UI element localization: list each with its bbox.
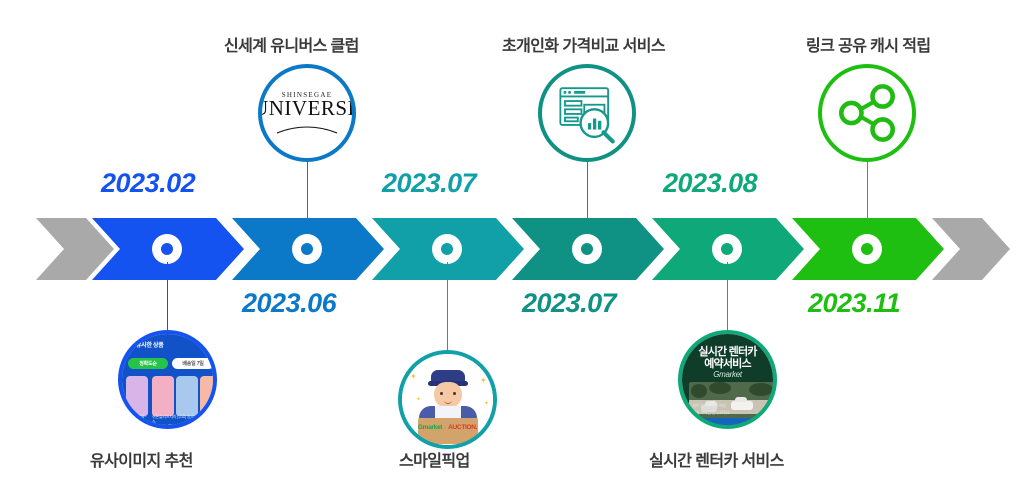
date-label-2023-02: 2023.02	[101, 168, 195, 199]
timeline-node-2023-06	[292, 234, 322, 264]
timeline-segment-2023-07-bottom[interactable]	[512, 218, 664, 280]
timeline-segment-2023-11[interactable]	[792, 218, 944, 280]
product-caption: 여름 쉬	[200, 414, 217, 419]
callout-title-link-share-cash: 링크 공유 캐시 적립	[806, 32, 931, 56]
badge-shinsegae-universe-logo: SHINSEGAE UNIVERSE	[258, 64, 356, 162]
badge-similar-image-screenshot: 유사한 상품 정확도순 배송일 7일 원피스 여름~ 쉬폰플리츠치마 [무료] …	[118, 330, 217, 429]
product-thumb[interactable]	[176, 376, 198, 416]
sparkle-icon: ✦	[480, 376, 487, 385]
product-price: 15,000원	[152, 424, 172, 429]
timeline-segment-2023-07-top[interactable]	[372, 218, 524, 280]
promo-bottom-bar	[682, 418, 773, 425]
product-thumb[interactable]	[152, 376, 174, 416]
promo-photo	[689, 382, 775, 422]
callout-caption-similar-image: 유사이미지 추천	[90, 447, 193, 471]
promo-note-2: 최대 72시간 전 무료취소	[692, 410, 730, 416]
product-caption: 쉬폰플리츠치마 [무료] 원피스	[152, 414, 196, 424]
promo-car	[731, 401, 753, 410]
filter-chip-active[interactable]: 정확도순	[128, 358, 168, 369]
timeline-segment-end-cap	[932, 218, 1010, 280]
logo-arc-icon	[276, 121, 338, 135]
delivery-box	[418, 418, 478, 444]
date-label-2023-07-top: 2023.07	[382, 168, 476, 199]
app-header-title: 유사한 상품	[136, 340, 163, 349]
share-network-icon	[822, 68, 912, 158]
connector-line-share	[867, 162, 868, 220]
connector-line-rental-car	[727, 262, 728, 330]
timeline-node-2023-08	[712, 234, 742, 264]
badge-price-comparison-icon	[538, 64, 636, 162]
gmarket-logo-icon: Gmarket	[418, 424, 442, 431]
callout-title-price-comparison: 초개인화 가격비교 서비스	[502, 32, 665, 56]
courier-face	[434, 382, 462, 408]
box-brand-logos: Gmarket · AUCTION.	[419, 424, 477, 431]
connector-line-shinsegae	[307, 162, 308, 220]
callout-caption-smile-pickup: 스마일픽업	[399, 447, 470, 471]
product-thumb[interactable]	[200, 376, 217, 416]
timeline-segment-2023-02[interactable]	[92, 218, 244, 280]
timeline-node-2023-07-top	[432, 234, 462, 264]
logo-large-text: UNIVERSE	[258, 98, 356, 119]
timeline-node-2023-02	[152, 234, 182, 264]
badge-rental-car-promo: 실시간 렌터카 예약서비스 Gmarket 제주 전지역 차량 배송 최대 72…	[678, 330, 777, 429]
date-label-2023-08: 2023.08	[663, 168, 757, 199]
timeline-segment-2023-08[interactable]	[652, 218, 804, 280]
auction-logo-icon: AUCTION.	[448, 424, 477, 431]
callout-caption-rental-car: 실시간 렌터카 서비스	[649, 447, 784, 471]
promo-headline-line1: 실시간 렌터카	[682, 346, 773, 359]
shopping-app-screenshot: 유사한 상품 정확도순 배송일 7일 원피스 여름~ 쉬폰플리츠치마 [무료] …	[122, 334, 213, 425]
shinsegae-universe-logo-icon: SHINSEGAE UNIVERSE	[262, 68, 352, 158]
timeline-segment-2023-06[interactable]	[232, 218, 384, 280]
logo-separator: ·	[444, 425, 446, 431]
timeline-node-2023-07-bottom	[572, 234, 602, 264]
browser-magnifier-chart-icon	[542, 68, 632, 158]
promo-headline-line2: 예약서비스	[682, 358, 773, 371]
courier-illustration-icon: ✦ ✦ ✦ ✦ Gmarket · AUCTION.	[402, 354, 493, 445]
timeline-node-2023-11	[852, 234, 882, 264]
product-caption: 원피스 여름~	[126, 414, 148, 419]
infographic-canvas: 신세계 유니버스 클럽 초개인화 가격비교 서비스 링크 공유 캐시 적립 SH…	[0, 0, 1024, 480]
filter-chip-inactive[interactable]: 배송일 7일	[172, 358, 214, 369]
date-label-2023-11: 2023.11	[808, 288, 900, 319]
sparkle-icon: ✦	[410, 372, 417, 381]
date-label-2023-06: 2023.06	[242, 288, 336, 319]
sparkle-icon: ✦	[416, 396, 421, 403]
product-thumb[interactable]	[126, 376, 148, 416]
rental-car-promo-card-icon: 실시간 렌터카 예약서비스 Gmarket 제주 전지역 차량 배송 최대 72…	[682, 334, 773, 425]
connector-line-similar-image	[167, 262, 168, 330]
callout-title-shinsegae-universe-club: 신세계 유니버스 클럽	[224, 32, 359, 56]
promo-script-text: Gmarket	[682, 370, 773, 379]
timeline-chevron-band	[0, 218, 1024, 280]
promo-note-1: 제주 전지역 차량 배송	[692, 403, 726, 409]
connector-line-smile-pickup	[447, 262, 448, 350]
badge-share-network-icon	[818, 64, 916, 162]
date-label-2023-07-bottom: 2023.07	[522, 288, 616, 319]
sparkle-icon: ✦	[484, 400, 489, 407]
badge-smile-pickup-illustration: ✦ ✦ ✦ ✦ Gmarket · AUCTION.	[398, 350, 497, 449]
connector-line-price-comparison	[587, 162, 588, 220]
